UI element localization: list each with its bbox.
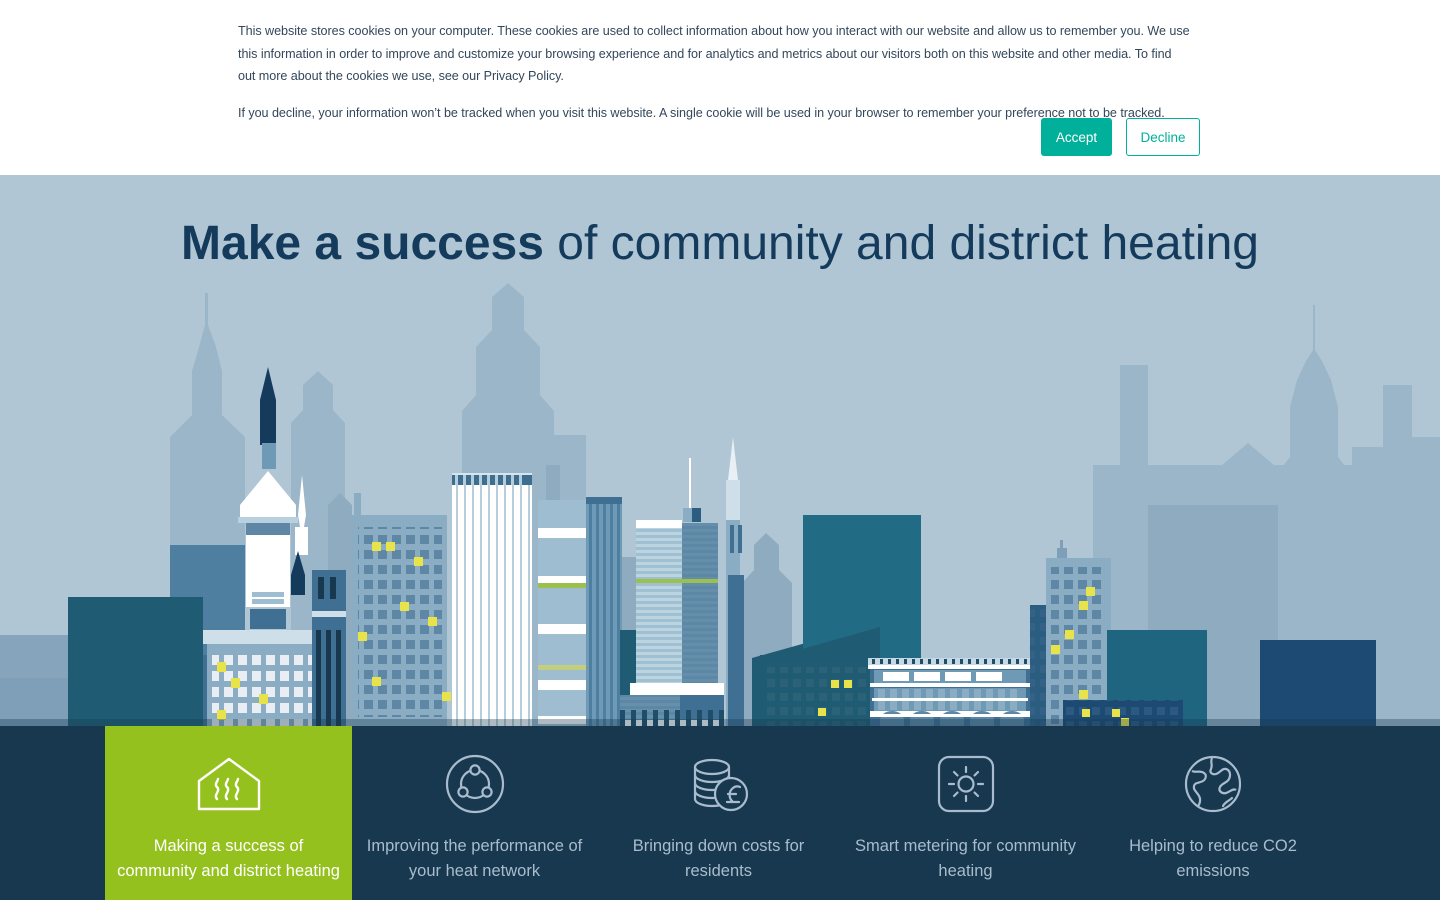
coins-pound-icon [687,753,751,815]
cookie-paragraph-1: This website stores cookies on your comp… [238,20,1190,88]
cookie-banner-actions: Accept Decline [1041,118,1200,156]
house-heat-icon [193,753,265,815]
cookie-consent-banner: This website stores cookies on your comp… [0,0,1440,175]
page-title-light: of community and district heating [544,217,1259,270]
nav-tab-reduce-co2[interactable]: Helping to reduce CO2 emissions [1090,726,1336,900]
nav-tab-label: Bringing down costs for residents [597,834,840,884]
network-nodes-icon [444,753,506,815]
nav-tab-bringing-down-costs[interactable]: Bringing down costs for residents [597,726,840,900]
smart-meter-sun-icon [935,753,997,815]
nav-tab-label: Helping to reduce CO2 emissions [1090,834,1336,884]
nav-tab-smart-metering[interactable]: Smart metering for community heating [843,726,1088,900]
nav-tab-making-a-success[interactable]: Making a success of community and distri… [105,726,352,900]
accept-cookies-button[interactable]: Accept [1041,118,1112,156]
page-title-bold: Make a success [181,217,544,270]
category-nav: Making a success of community and distri… [0,726,1440,900]
page-root: Make a success of community and district… [0,0,1440,900]
decline-cookies-button[interactable]: Decline [1126,118,1200,156]
cookie-banner-text: This website stores cookies on your comp… [238,20,1190,124]
nav-tab-improving-performance[interactable]: Improving the performance of your heat n… [352,726,597,900]
nav-tab-label: Improving the performance of your heat n… [352,834,597,884]
nav-tab-label: Making a success of community and distri… [105,834,352,884]
nav-tab-label: Smart metering for community heating [843,834,1088,884]
nav-tab-list: Making a success of community and distri… [0,726,1440,900]
page-title: Make a success of community and district… [0,215,1440,273]
hero-section: Make a success of community and district… [0,175,1440,726]
globe-icon [1182,753,1244,815]
